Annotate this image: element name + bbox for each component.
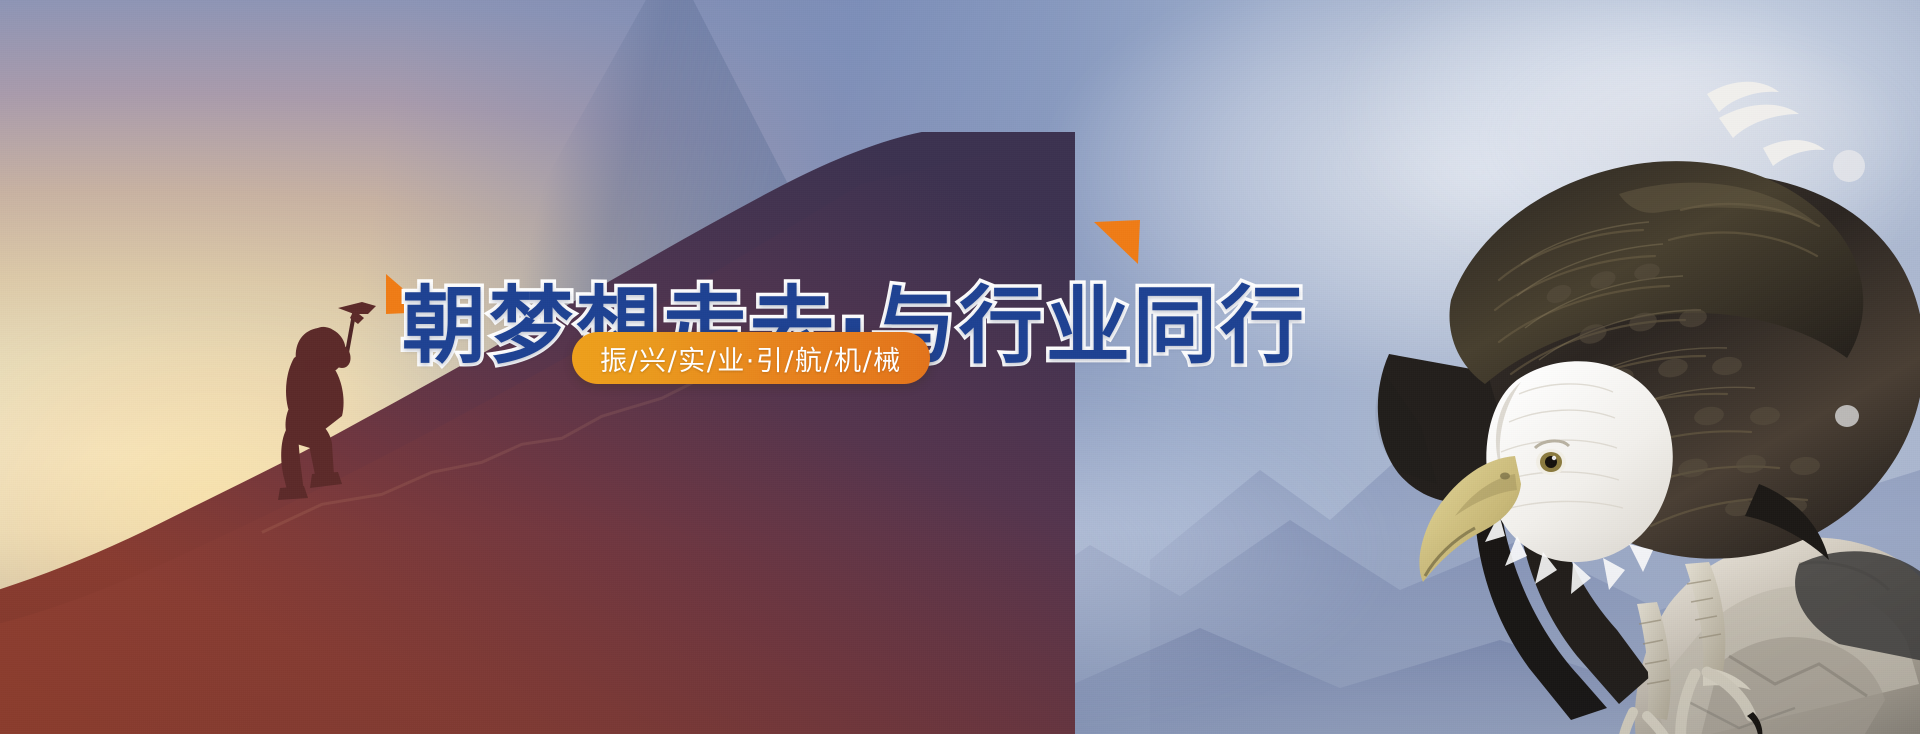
slogan-badge: 振/兴/实/业·引/航/机/械 xyxy=(572,332,930,384)
banner-text-block: 朝梦想走去·与行业同行 振/兴/实/业·引/航/机/械 xyxy=(380,222,1170,422)
slogan-badge-label: 振/兴/实/业·引/航/机/械 xyxy=(600,339,902,378)
climber-silhouette-icon xyxy=(250,280,400,510)
accent-arrow-top-right-icon xyxy=(1092,218,1146,268)
bald-eagle-image xyxy=(1199,44,1920,734)
hero-banner: 朝梦想走去·与行业同行 振/兴/实/业·引/航/机/械 xyxy=(0,0,1920,734)
